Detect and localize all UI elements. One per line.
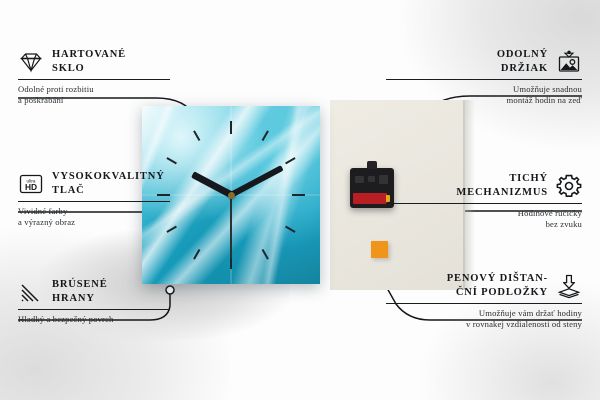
- feature-description: Umožňuje snadnou montáž hodin na zeď: [382, 84, 582, 107]
- feature-description: Hodinové ručičky bez zvuku: [382, 208, 582, 231]
- divider: [18, 79, 170, 80]
- feature-description: Hladký a bezpečný povrch: [18, 314, 218, 325]
- clock-second-hand: [230, 195, 232, 259]
- divider: [386, 303, 582, 304]
- divider: [18, 309, 170, 310]
- infographic-canvas: HARTOVANÉ SKLO Odolné proti rozbitiu a p…: [0, 0, 600, 400]
- movement-detail-b: [368, 176, 375, 182]
- feature-description: Vividné farby a výrazný obraz: [18, 206, 218, 229]
- ultra-hd-icon: ultra HD: [18, 171, 44, 197]
- feature-title: PENOVÝ DIŠTAN- ČNÍ PODLOŽKY: [447, 272, 548, 299]
- clock-center-cap: [228, 192, 235, 199]
- feature-high-quality-print: ultra HD VYSOKOKVALITNÝ TLAČ Vividné far…: [18, 170, 218, 229]
- foam-spacer-pad-image: [371, 241, 388, 258]
- feature-foam-spacers: PENOVÝ DIŠTAN- ČNÍ PODLOŽKY Umožňuje vám…: [382, 272, 582, 331]
- divider: [386, 203, 582, 204]
- feature-title: TICHÝ MECHANIZMUS: [456, 172, 548, 199]
- gear-icon: [556, 173, 582, 199]
- feature-durable-hanger: ODOLNÝ DRŽIAK Umožňuje snadnou montáž ho…: [382, 48, 582, 107]
- feature-polished-edges: BRÚSENÉ HRANY Hladký a bezpečný povrch: [18, 278, 218, 325]
- diamond-icon: [18, 49, 44, 75]
- divider: [386, 79, 582, 80]
- feature-title: ODOLNÝ DRŽIAK: [497, 48, 548, 75]
- feature-title: HARTOVANÉ SKLO: [52, 48, 126, 75]
- feature-description: Odolné proti rozbitiu a poškrábání: [18, 84, 218, 107]
- feature-tempered-glass: HARTOVANÉ SKLO Odolné proti rozbitiu a p…: [18, 48, 218, 107]
- feature-title: BRÚSENÉ HRANY: [52, 278, 108, 305]
- divider: [18, 201, 170, 202]
- picture-hanger-icon: [556, 49, 582, 75]
- svg-text:HD: HD: [25, 182, 37, 192]
- movement-detail-a: [355, 176, 364, 183]
- ground-edges-icon: [18, 279, 44, 305]
- feature-silent-mechanism: TICHÝ MECHANIZMUS Hodinové ručičky bez z…: [382, 172, 582, 231]
- feature-title: VYSOKOKVALITNÝ TLAČ: [52, 170, 165, 197]
- stacked-pads-arrow-icon: [556, 273, 582, 299]
- movement-shaft: [367, 161, 377, 169]
- feature-description: Umožňuje vám držať hodiny v rovnakej vzd…: [382, 308, 582, 331]
